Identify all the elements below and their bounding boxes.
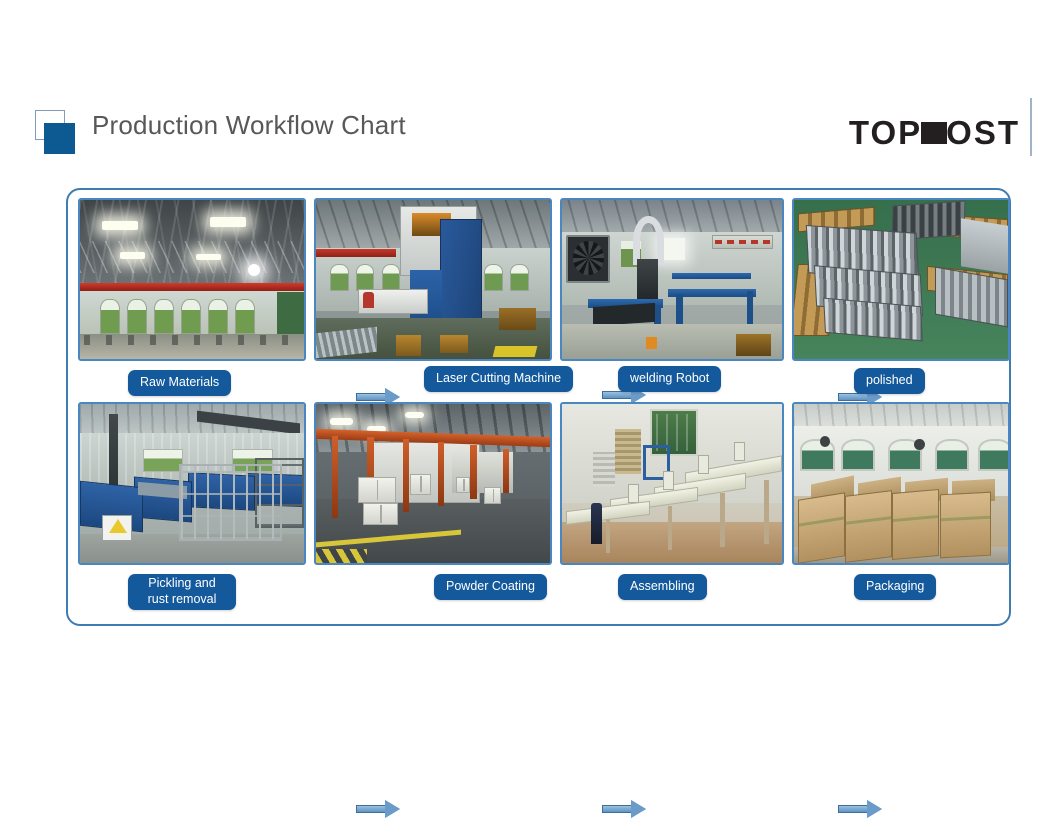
workflow-step-welding-robot[interactable]: welding Robot — [560, 198, 784, 403]
page-header: Production Workflow Chart TOP OST — [0, 96, 1060, 166]
workflow-step-laser-cutting[interactable]: Laser Cutting Machine — [314, 198, 552, 403]
workflow-step-pickling[interactable]: Pickling and rust removal — [78, 402, 306, 607]
square-logo-mark — [35, 110, 79, 154]
brand-divider — [1030, 98, 1032, 156]
step-label-assembling: Assembling — [618, 574, 707, 600]
next-step-arrow — [356, 800, 402, 818]
next-step-arrow — [838, 800, 884, 818]
factory-hall-photo — [78, 198, 306, 361]
welding-robot-photo — [560, 198, 784, 361]
step-label-pickling: Pickling and rust removal — [128, 574, 236, 610]
step-label-polished: polished — [854, 368, 925, 394]
workflow-row-1: Raw Materials Laser Cutting Machine — [68, 198, 1013, 403]
next-step-arrow — [602, 800, 648, 818]
brand-wordmark: TOP OST — [849, 116, 1020, 149]
brand-logo: TOP OST — [849, 104, 1020, 160]
workflow-step-raw-materials[interactable]: Raw Materials — [78, 198, 306, 403]
workflow-container: Raw Materials Laser Cutting Machine — [66, 188, 1011, 626]
step-label-raw-materials: Raw Materials — [128, 370, 231, 396]
brand-prefix: TOP — [849, 116, 922, 149]
logo-solid-square — [44, 123, 75, 154]
workflow-step-powder-coating[interactable]: Powder Coating — [314, 402, 552, 607]
laser-cutting-machine-photo — [314, 198, 552, 361]
workflow-step-packaging[interactable]: Packaging — [792, 402, 1010, 607]
workflow-step-assembling[interactable]: Assembling — [560, 402, 784, 607]
step-label-welding-robot: welding Robot — [618, 366, 721, 392]
step-label-powder-coating: Powder Coating — [434, 574, 547, 600]
workflow-step-polished[interactable]: polished — [792, 198, 1010, 403]
brand-suffix: OST — [946, 116, 1020, 149]
packaging-boxes-photo — [792, 402, 1010, 565]
polished-parts-photo — [792, 198, 1010, 361]
step-label-laser-cutting: Laser Cutting Machine — [424, 366, 573, 392]
assembling-area-photo — [560, 402, 784, 565]
pickling-tanks-photo — [78, 402, 306, 565]
brand-m-glyph — [921, 120, 947, 144]
step-label-packaging: Packaging — [854, 574, 936, 600]
workflow-row-2: Pickling and rust removal — [68, 402, 1013, 607]
page-title: Production Workflow Chart — [92, 110, 406, 141]
powder-coating-line-photo — [314, 402, 552, 565]
